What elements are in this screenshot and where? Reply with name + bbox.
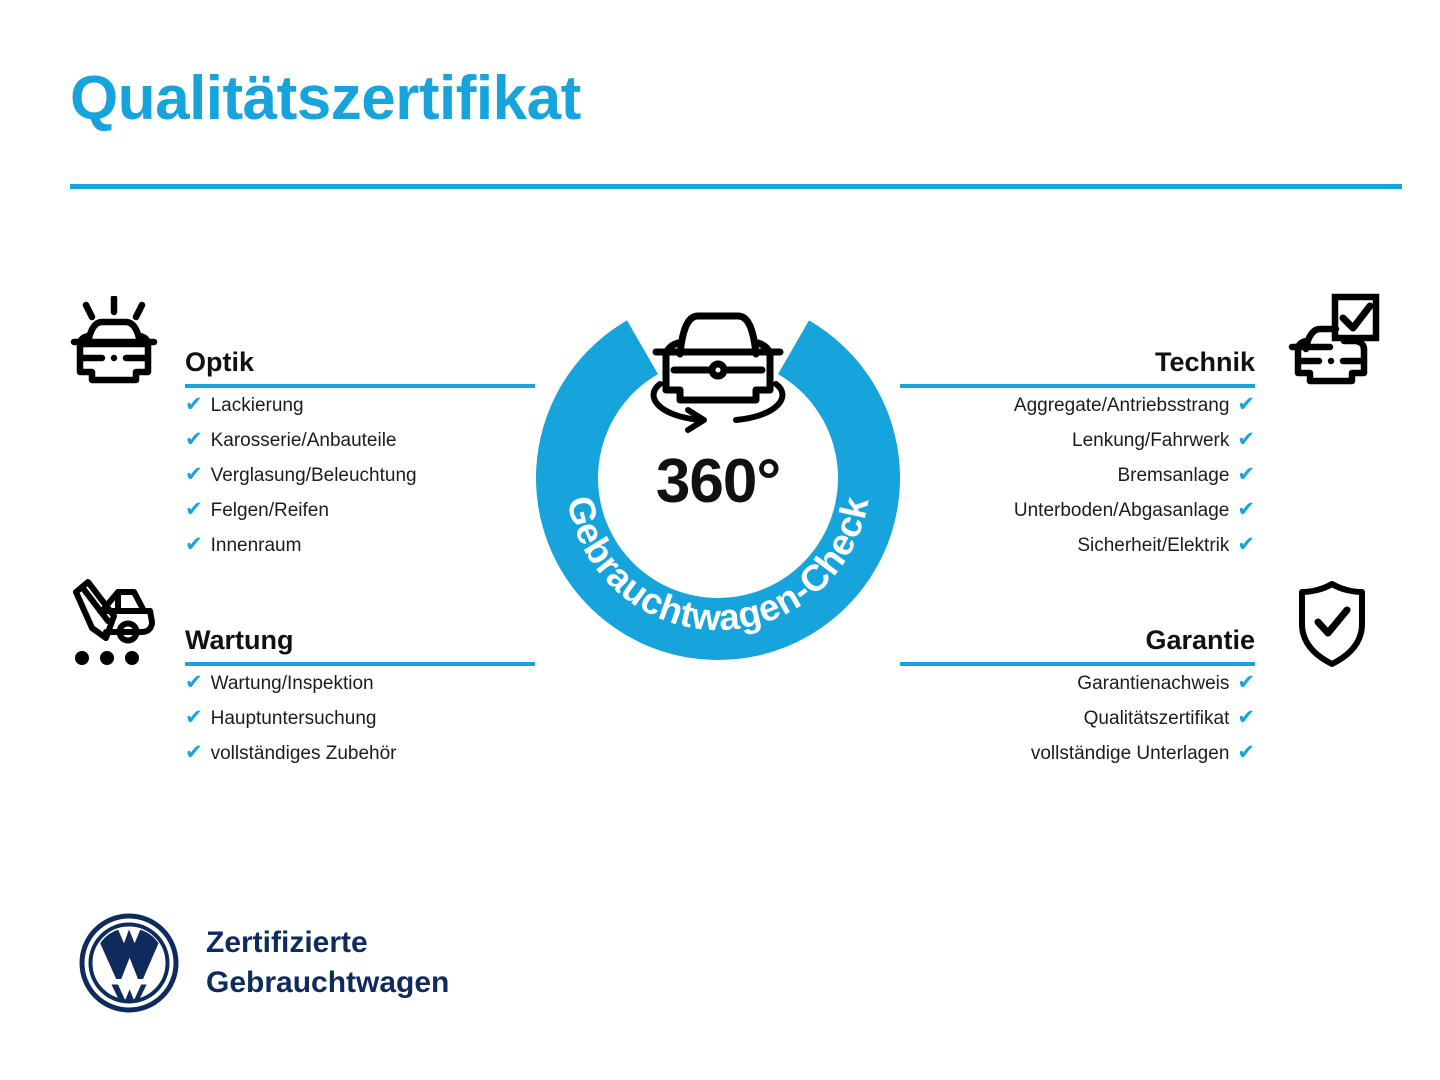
check-icon: ✔: [185, 388, 203, 422]
list-item-label: Garantienachweis: [1077, 667, 1229, 701]
section-optik: Optik ✔ Lackierung ✔ Karosserie/Anbautei…: [185, 334, 535, 563]
list-item: Bremsanlage ✔: [900, 458, 1255, 493]
list-item: Aggregate/Antriebsstrang ✔: [900, 388, 1255, 423]
footer-wordmark: Zertifizierte Gebrauchtwagen: [206, 923, 449, 1002]
car-checkbox-icon: [1282, 293, 1380, 396]
section-header: Optik: [185, 334, 535, 388]
car-service-pencil-icon: [66, 578, 162, 679]
check-icon: ✔: [1237, 458, 1255, 492]
list-item: ✔ Verglasung/Beleuchtung: [185, 458, 535, 493]
page-title: Qualitätszertifikat: [70, 66, 581, 131]
check-icon: ✔: [1237, 528, 1255, 562]
check-icon: ✔: [1237, 388, 1255, 422]
check-icon: ✔: [185, 458, 203, 492]
footer-line-1: Zertifizierte: [206, 923, 449, 963]
check-icon: ✔: [1237, 666, 1255, 700]
list-item: ✔ Felgen/Reifen: [185, 493, 535, 528]
check-icon: ✔: [1237, 736, 1255, 770]
list-item-label: Unterboden/Abgasanlage: [1014, 494, 1230, 528]
section-title-garantie: Garantie: [1145, 627, 1255, 654]
list-item-label: Qualitätszertifikat: [1084, 702, 1230, 736]
header-divider: [70, 184, 1402, 189]
list-item: ✔ Hauptuntersuchung: [185, 701, 535, 736]
list-item: ✔ Karosserie/Anbauteile: [185, 423, 535, 458]
check-icon: ✔: [1237, 423, 1255, 457]
section-header: Garantie: [900, 612, 1255, 666]
list-item-label: Lenkung/Fahrwerk: [1072, 424, 1229, 458]
list-item: Sicherheit/Elektrik ✔: [900, 528, 1255, 563]
list-item-label: Lackierung: [211, 389, 304, 423]
list-item-label: Karosserie/Anbauteile: [211, 424, 397, 458]
section-title-technik: Technik: [1155, 349, 1255, 376]
list-item: vollständige Unterlagen ✔: [900, 736, 1255, 771]
section-header: Wartung: [185, 612, 535, 666]
list-item: Garantienachweis ✔: [900, 666, 1255, 701]
list-item-label: Verglasung/Beleuchtung: [211, 459, 417, 493]
optik-list: ✔ Lackierung ✔ Karosserie/Anbauteile ✔ V…: [185, 388, 535, 563]
section-header: Technik: [900, 334, 1255, 388]
check-icon: ✔: [185, 736, 203, 770]
list-item-label: Sicherheit/Elektrik: [1077, 529, 1229, 563]
section-title-wartung: Wartung: [185, 627, 293, 654]
list-item: Qualitätszertifikat ✔: [900, 701, 1255, 736]
check-icon: ✔: [1237, 493, 1255, 527]
technik-list: Aggregate/Antriebsstrang ✔ Lenkung/Fahrw…: [900, 388, 1255, 563]
list-item-label: Bremsanlage: [1117, 459, 1229, 493]
list-item: Lenkung/Fahrwerk ✔: [900, 423, 1255, 458]
list-item-label: vollständige Unterlagen: [1031, 737, 1230, 771]
certificate-page: Qualitätszertifikat Optik: [0, 0, 1440, 1080]
list-item-label: Innenraum: [211, 529, 302, 563]
footer-brand-lockup: Zertifizierte Gebrauchtwagen: [78, 912, 449, 1014]
section-title-optik: Optik: [185, 349, 254, 376]
check-icon: ✔: [185, 423, 203, 457]
car-shine-icon: [66, 296, 162, 393]
list-item-label: Wartung/Inspektion: [211, 667, 374, 701]
list-item: ✔ vollständiges Zubehör: [185, 736, 535, 771]
list-item-label: vollständiges Zubehör: [211, 737, 397, 771]
garantie-list: Garantienachweis ✔ Qualitätszertifikat ✔…: [900, 666, 1255, 771]
wartung-list: ✔ Wartung/Inspektion ✔ Hauptuntersuchung…: [185, 666, 535, 771]
section-garantie: Garantie Garantienachweis ✔ Qualitätszer…: [900, 612, 1255, 771]
footer-line-2: Gebrauchtwagen: [206, 963, 449, 1003]
section-underline: [185, 384, 535, 388]
list-item-label: Hauptuntersuchung: [211, 702, 377, 736]
list-item-label: Aggregate/Antriebsstrang: [1014, 389, 1229, 423]
check-icon: ✔: [1237, 701, 1255, 735]
section-technik: Technik Aggregate/Antriebsstrang ✔ Lenku…: [900, 334, 1255, 563]
check-icon: ✔: [185, 493, 203, 527]
list-item: ✔ Innenraum: [185, 528, 535, 563]
section-underline: [900, 662, 1255, 666]
list-item-label: Felgen/Reifen: [211, 494, 329, 528]
section-underline: [185, 662, 535, 666]
check-icon: ✔: [185, 701, 203, 735]
section-underline: [900, 384, 1255, 388]
check-icon: ✔: [185, 666, 203, 700]
list-item: Unterboden/Abgasanlage ✔: [900, 493, 1255, 528]
section-wartung: Wartung ✔ Wartung/Inspektion ✔ Hauptunte…: [185, 612, 535, 771]
list-item: ✔ Wartung/Inspektion: [185, 666, 535, 701]
badge-360-gebrauchtwagen-check: Gebrauchtwagen-Check: [518, 278, 918, 678]
check-icon: ✔: [185, 528, 203, 562]
list-item: ✔ Lackierung: [185, 388, 535, 423]
volkswagen-roundel-icon: [78, 912, 180, 1014]
shield-check-icon: [1296, 580, 1368, 673]
